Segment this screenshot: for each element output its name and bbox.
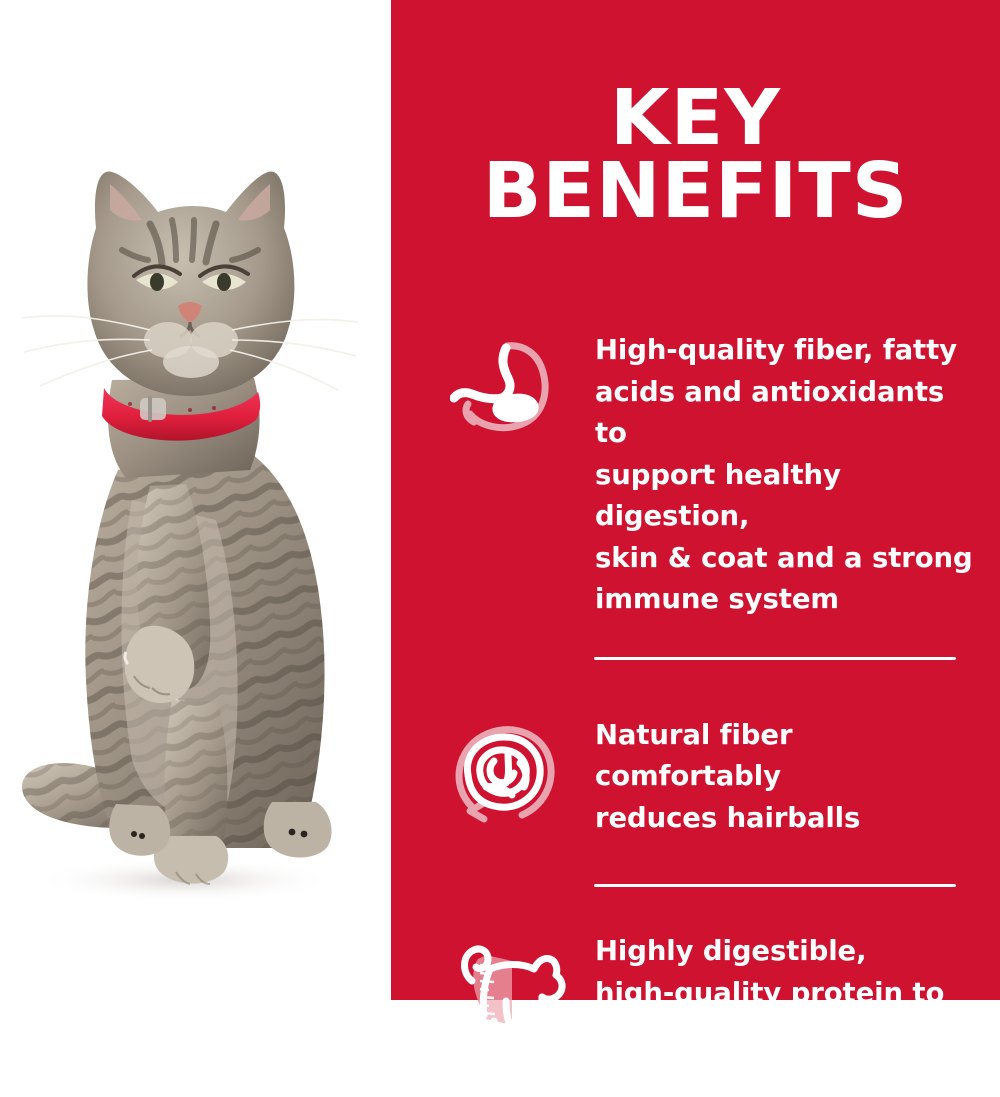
benefit-text-hairball: Natural fiber comfortably reduces hairba…: [595, 715, 981, 840]
stomach-icon: [450, 338, 574, 442]
cat-photo: [0, 0, 391, 1000]
hairball-icon: [450, 723, 574, 827]
benefit-item-digestion: High-quality fiber, fatty acids and anti…: [391, 330, 1000, 621]
key-benefits-panel: KEY BENEFITS High-quality fiber, fatty a…: [0, 0, 1000, 1000]
cat-photo-panel: [0, 0, 391, 1000]
benefit-item-hairball: Natural fiber comfortably reduces hairba…: [391, 715, 1000, 840]
benefit-text-digestion: High-quality fiber, fatty acids and anti…: [595, 330, 981, 621]
page-title: KEY BENEFITS: [391, 82, 1000, 228]
benefit-list: High-quality fiber, fatty acids and anti…: [391, 330, 1000, 1097]
cat-measuring-tape-icon: [450, 939, 574, 1043]
benefit-text-protein: Highly digestible, high-quality protein …: [595, 931, 981, 1097]
benefits-panel: KEY BENEFITS High-quality fiber, fatty a…: [391, 0, 1000, 1000]
benefit-item-protein: Highly digestible, high-quality protein …: [391, 931, 1000, 1097]
